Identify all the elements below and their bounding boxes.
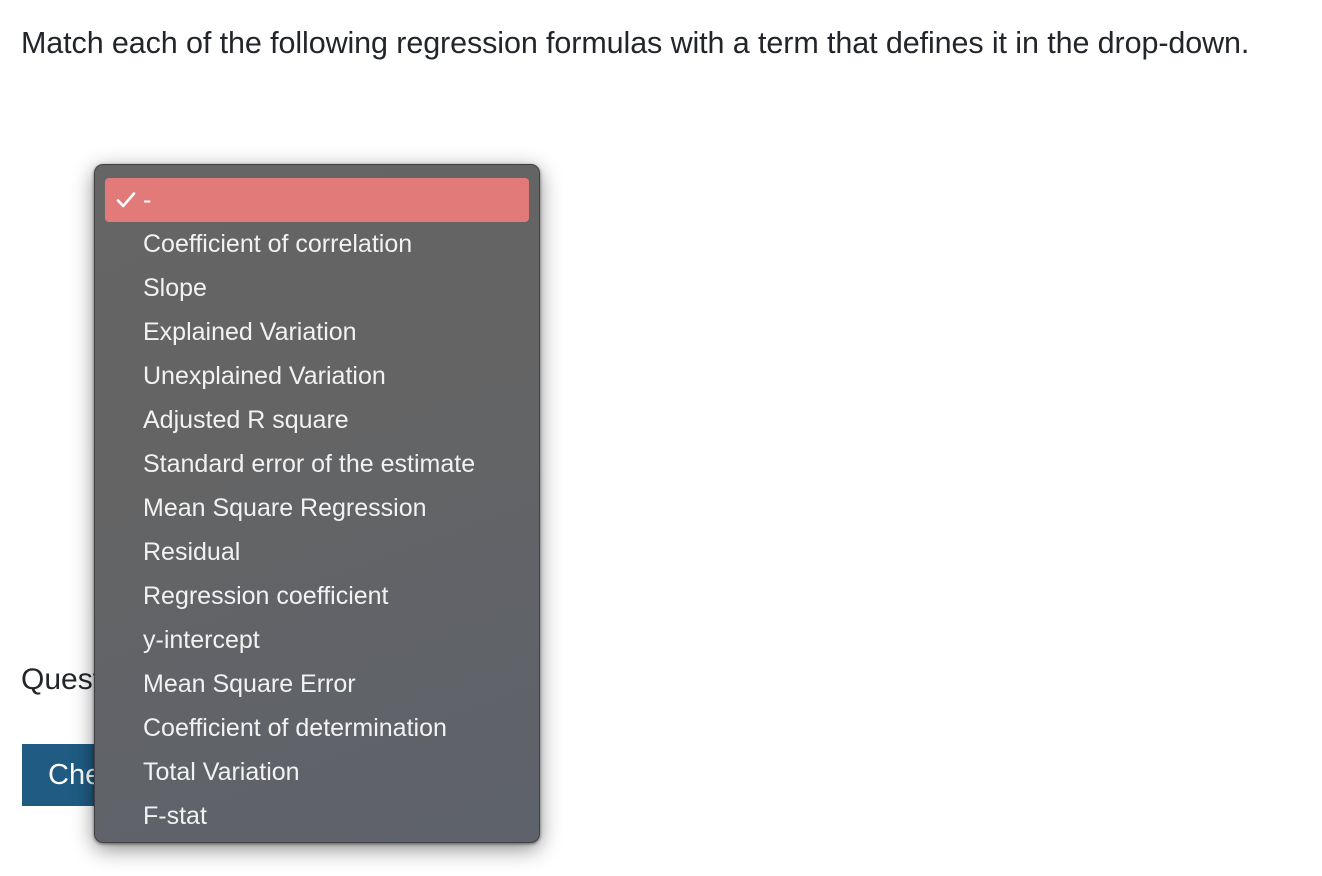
dropdown-option-5[interactable]: Adjusted R square [95, 398, 539, 442]
dropdown-option-3[interactable]: Explained Variation [95, 310, 539, 354]
dropdown-option-label-13: Total Variation [143, 758, 300, 786]
dropdown-option-label-6: Standard error of the estimate [143, 450, 475, 478]
dropdown-option-label-12: Coefficient of determination [143, 714, 447, 742]
dropdown-option-label-14: F-stat [143, 802, 207, 830]
dropdown-option-label-2: Slope [143, 274, 207, 302]
dropdown-option-label-1: Coefficient of correlation [143, 230, 412, 258]
check-icon [115, 178, 137, 222]
dropdown-option-0[interactable]: - [105, 178, 529, 222]
dropdown-option-label-9: Regression coefficient [143, 582, 389, 610]
dropdown-option-label-4: Unexplained Variation [143, 362, 386, 390]
dropdown-option-11[interactable]: Mean Square Error [95, 662, 539, 706]
dropdown-option-label-8: Residual [143, 538, 240, 566]
term-dropdown-menu[interactable]: - Coefficient of correlation Slope Expla… [94, 164, 540, 843]
dropdown-option-14[interactable]: F-stat [95, 794, 539, 838]
dropdown-option-label-11: Mean Square Error [143, 670, 356, 698]
dropdown-option-13[interactable]: Total Variation [95, 750, 539, 794]
dropdown-option-label-5: Adjusted R square [143, 406, 349, 434]
dropdown-option-8[interactable]: Residual [95, 530, 539, 574]
dropdown-option-label-0: - [143, 186, 151, 214]
dropdown-option-9[interactable]: Regression coefficient [95, 574, 539, 618]
dropdown-option-2[interactable]: Slope [95, 266, 539, 310]
dropdown-option-label-10: y-intercept [143, 626, 260, 654]
dropdown-option-7[interactable]: Mean Square Regression [95, 486, 539, 530]
dropdown-option-label-7: Mean Square Regression [143, 494, 427, 522]
dropdown-option-6[interactable]: Standard error of the estimate [95, 442, 539, 486]
dropdown-option-1[interactable]: Coefficient of correlation [95, 222, 539, 266]
page-title: Match each of the following regression f… [21, 17, 1311, 70]
dropdown-option-label-3: Explained Variation [143, 318, 357, 346]
dropdown-option-4[interactable]: Unexplained Variation [95, 354, 539, 398]
dropdown-option-10[interactable]: y-intercept [95, 618, 539, 662]
dropdown-option-12[interactable]: Coefficient of determination [95, 706, 539, 750]
